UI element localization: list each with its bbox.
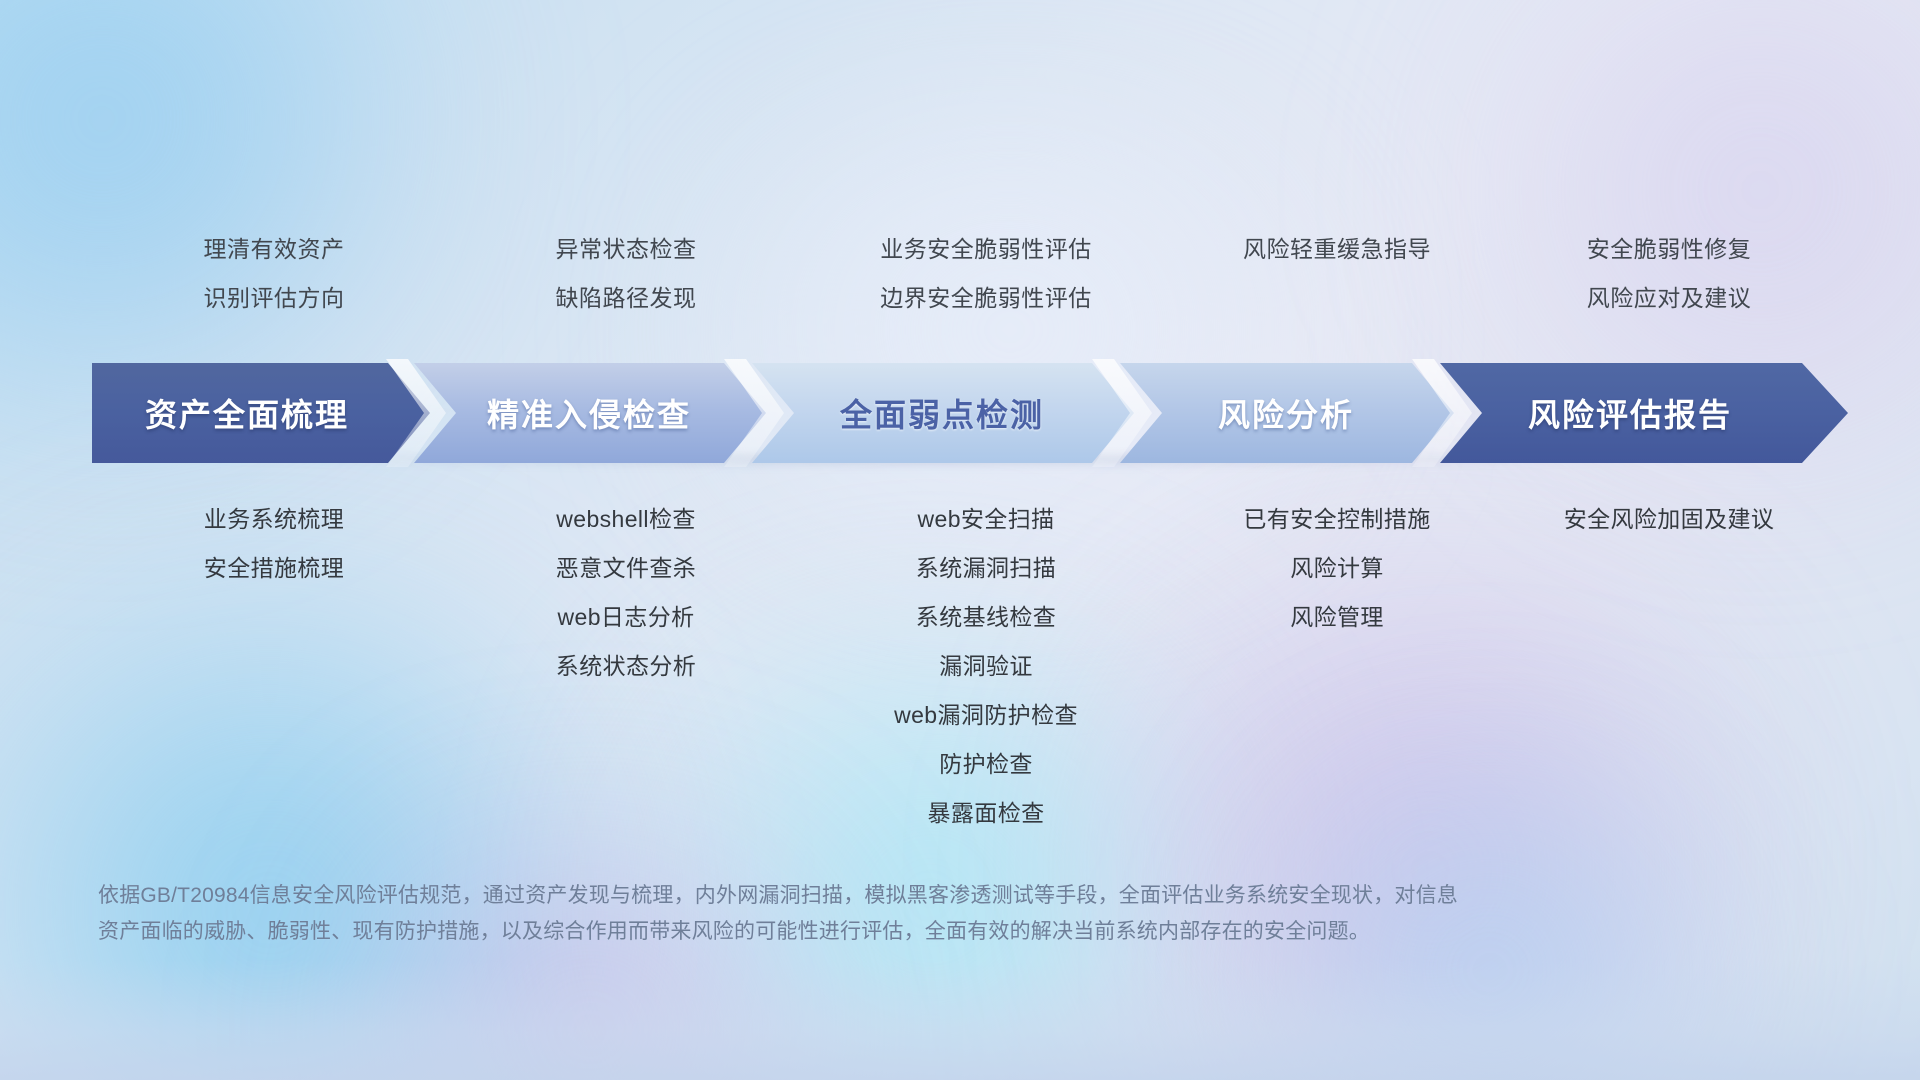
bottom-label: web安全扫描 — [800, 495, 1172, 544]
stage-chevron-4[interactable]: 风险分析 — [1120, 363, 1454, 463]
top-labels-stage-2: 异常状态检查 缺陷路径发现 — [452, 225, 800, 335]
bottom-label: 业务系统梳理 — [96, 495, 452, 544]
footer-line-1: 依据GB/T20984信息安全风险评估规范，通过资产发现与梳理，内外网漏洞扫描，… — [98, 878, 1728, 914]
top-label: 安全脆弱性修复 — [1502, 225, 1836, 274]
stage-title: 全面弱点检测 — [814, 390, 1072, 436]
top-label: 风险应对及建议 — [1502, 274, 1836, 323]
chevron-band: 资产全面梳理 精准入侵检查 全面弱点检测 风险分析 风险评估报告 — [92, 363, 1848, 463]
top-label: 识别评估方向 — [96, 274, 452, 323]
top-label: 边界安全脆弱性评估 — [800, 274, 1172, 323]
bottom-label: web日志分析 — [452, 593, 800, 642]
stage-chevron-2[interactable]: 精准入侵检查 — [414, 363, 766, 463]
bottom-label: 安全措施梳理 — [96, 544, 452, 593]
bottom-label: 安全风险加固及建议 — [1502, 495, 1836, 544]
bottom-label: 漏洞验证 — [800, 642, 1172, 691]
bottom-label-row: 业务系统梳理 安全措施梳理 webshell检查 恶意文件查杀 web日志分析 … — [96, 495, 1836, 838]
top-labels-stage-1: 理清有效资产 识别评估方向 — [96, 225, 452, 335]
stage-title: 风险评估报告 — [1528, 390, 1760, 436]
footer-description: 依据GB/T20984信息安全风险评估规范，通过资产发现与梳理，内外网漏洞扫描，… — [98, 878, 1728, 950]
top-label-row: 理清有效资产 识别评估方向 异常状态检查 缺陷路径发现 业务安全脆弱性评估 边界… — [96, 225, 1836, 335]
bottom-labels-stage-4: 已有安全控制措施 风险计算 风险管理 — [1172, 495, 1502, 642]
top-label: 业务安全脆弱性评估 — [800, 225, 1172, 274]
bottom-labels-stage-1: 业务系统梳理 安全措施梳理 — [96, 495, 452, 593]
stage-title: 资产全面梳理 — [145, 390, 377, 436]
bottom-label: 系统漏洞扫描 — [800, 544, 1172, 593]
top-labels-stage-5: 安全脆弱性修复 风险应对及建议 — [1502, 225, 1836, 335]
bottom-label: 防护检查 — [800, 740, 1172, 789]
stage-chevron-1[interactable]: 资产全面梳理 — [92, 363, 430, 463]
stage-title: 风险分析 — [1192, 390, 1382, 436]
bottom-labels-stage-3: web安全扫描 系统漏洞扫描 系统基线检查 漏洞验证 web漏洞防护检查 防护检… — [800, 495, 1172, 838]
top-label: 风险轻重缓急指导 — [1172, 225, 1502, 274]
top-label: 理清有效资产 — [96, 225, 452, 274]
footer-line-2: 资产面临的威胁、脆弱性、现有防护措施，以及综合作用而带来风险的可能性进行评估，全… — [98, 914, 1728, 950]
top-label: 缺陷路径发现 — [452, 274, 800, 323]
bottom-labels-stage-5: 安全风险加固及建议 — [1502, 495, 1836, 544]
stage-chevron-3[interactable]: 全面弱点检测 — [752, 363, 1134, 463]
stage-title: 精准入侵检查 — [461, 390, 719, 436]
bottom-label: 已有安全控制措施 — [1172, 495, 1502, 544]
bottom-label: 恶意文件查杀 — [452, 544, 800, 593]
top-labels-stage-4: 风险轻重缓急指导 — [1172, 225, 1502, 335]
bottom-label: 风险计算 — [1172, 544, 1502, 593]
process-diagram: 理清有效资产 识别评估方向 异常状态检查 缺陷路径发现 业务安全脆弱性评估 边界… — [0, 0, 1920, 1080]
stage-chevron-5[interactable]: 风险评估报告 — [1440, 363, 1848, 463]
top-labels-stage-3: 业务安全脆弱性评估 边界安全脆弱性评估 — [800, 225, 1172, 335]
top-label: 异常状态检查 — [452, 225, 800, 274]
bottom-label: 风险管理 — [1172, 593, 1502, 642]
bottom-label: 系统状态分析 — [452, 642, 800, 691]
bottom-label: web漏洞防护检查 — [800, 691, 1172, 740]
bottom-label: webshell检查 — [452, 495, 800, 544]
bottom-label: 系统基线检查 — [800, 593, 1172, 642]
bottom-label: 暴露面检查 — [800, 789, 1172, 838]
bottom-labels-stage-2: webshell检查 恶意文件查杀 web日志分析 系统状态分析 — [452, 495, 800, 691]
